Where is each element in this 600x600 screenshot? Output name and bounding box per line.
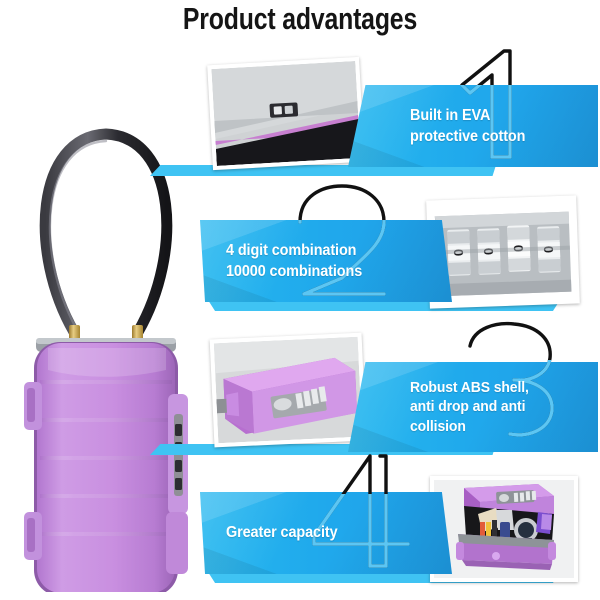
feature-text-2: 4 digit combination 10000 combinations bbox=[200, 220, 478, 302]
feature-2-line-2: 10000 combinations bbox=[226, 261, 460, 282]
feature-3-line-1: Robust ABS shell, bbox=[410, 378, 600, 398]
feature-text-1: Built in EVA protective cotton bbox=[348, 85, 600, 167]
latch-right-bottom bbox=[166, 512, 188, 574]
feature-row-4: Greater capacity bbox=[200, 462, 600, 592]
feature-3-line-3: collision bbox=[410, 417, 600, 437]
feature-text-3: Robust ABS shell, anti drop and anti col… bbox=[348, 362, 600, 452]
feature-3-line-2: anti drop and anti bbox=[410, 397, 600, 417]
feature-row-3: Robust ABS shell, anti drop and anti col… bbox=[200, 328, 600, 463]
feature-4-line-1: Greater capacity bbox=[226, 522, 460, 543]
page-title: Product advantages bbox=[60, 1, 540, 37]
feature-1-line-2: protective cotton bbox=[410, 126, 600, 147]
photo-eva-cotton-edge bbox=[207, 57, 365, 170]
product-advantages-infographic: Product advantages bbox=[0, 0, 600, 600]
feature-row-2: 0 0 bbox=[200, 190, 600, 320]
feature-text-4: Greater capacity bbox=[200, 492, 478, 574]
feature-1-line-1: Built in EVA bbox=[410, 105, 600, 126]
hero-product-image bbox=[8, 42, 204, 592]
feature-2-line-1: 4 digit combination bbox=[226, 240, 460, 261]
photo-closed-purple-case bbox=[210, 333, 367, 448]
feature-row-1: Built in EVA protective cotton bbox=[200, 55, 600, 185]
